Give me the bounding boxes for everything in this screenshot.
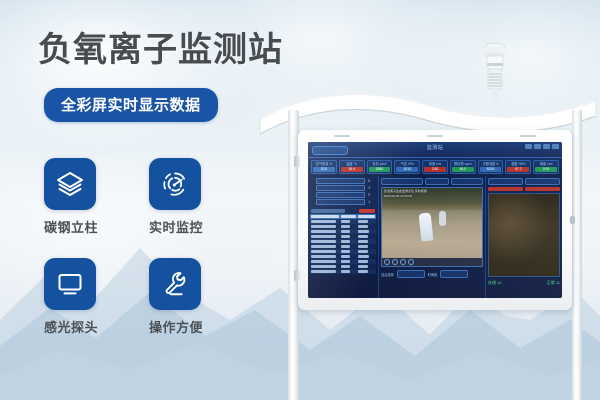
cell-text-bar: [341, 260, 350, 263]
cell-text-bar: [358, 225, 368, 228]
dashboard-toolbar[interactable]: [525, 144, 559, 149]
kpi-card[interactable]: 风速 m/s2.60: [422, 160, 448, 174]
cell-text-bar: [341, 230, 350, 233]
video-feed[interactable]: 负氧离子生态监测点位 实时视频 2023-02-20 14:26:08: [381, 187, 483, 267]
cell-text-bar: [341, 225, 350, 228]
range-select[interactable]: [440, 270, 468, 278]
layers-icon-tile: [44, 158, 96, 210]
cell-text-bar: [358, 220, 368, 223]
kpi-value: 57.2: [507, 167, 529, 172]
product-banner: 负氧离子监测站 全彩屏实时显示数据 碳钢立柱: [0, 0, 600, 400]
cell-text-bar: [311, 250, 336, 253]
range-select-label: 时间段: [428, 272, 438, 277]
cell-text-bar: [341, 240, 350, 243]
status-online: 在线 12: [488, 280, 502, 286]
dashboard-left-panel: 6391: [308, 176, 379, 298]
feature-grid: 碳钢立柱 实时监控: [44, 158, 234, 336]
post-right: [572, 110, 582, 400]
kpi-card[interactable]: 温度 ℃18.4: [339, 160, 365, 174]
tool-icon[interactable]: [543, 144, 550, 149]
cell-text-bar: [341, 245, 350, 248]
status-normal: 正常 11: [547, 280, 560, 286]
cabinet-hinge: [294, 270, 300, 281]
kpi-card[interactable]: 空气质量 %32.5: [311, 160, 337, 174]
video-toolbar[interactable]: [381, 178, 483, 185]
monitor-icon: [55, 269, 85, 299]
tool-icon[interactable]: [525, 144, 532, 149]
map-view[interactable]: [488, 193, 560, 277]
mini-stat: 9: [316, 192, 370, 198]
feature-label: 碳钢立柱: [44, 217, 96, 236]
cell-text-bar: [341, 220, 350, 223]
header-text-bar: [358, 215, 375, 218]
cabinet-vent: [334, 135, 350, 137]
wrench-icon-tile: [149, 258, 201, 310]
right-panel-footer: 在线 12 正常 11: [488, 280, 560, 286]
kpi-card[interactable]: 负氧 pcs/l1860: [367, 160, 393, 174]
tool-icon[interactable]: [534, 144, 541, 149]
dashboard-title: 监测站: [308, 144, 562, 151]
feature-item-steel-column[interactable]: 碳钢立柱: [44, 158, 96, 236]
kpi-label: 风速 m/s: [424, 162, 446, 166]
video-refresh-button[interactable]: [451, 178, 483, 185]
kpi-label: 光照强度 lx: [480, 162, 502, 166]
kpi-label: 温度 ℃: [341, 162, 363, 166]
site-select-label: 站点选择: [381, 272, 394, 277]
display-cabinet: 监测站 空气质量 %32.5温度 ℃18.4负氧 pcs/l1860气压 hPa…: [298, 130, 572, 310]
cell-text-bar: [358, 255, 369, 258]
monitor-icon-tile: [44, 258, 96, 310]
video-subject-person: [439, 211, 446, 226]
mini-stat-bar: [316, 185, 365, 191]
kpi-card[interactable]: 光照强度 lx8200: [478, 160, 504, 174]
device-table[interactable]: [310, 214, 376, 274]
status-badge[interactable]: [488, 187, 523, 191]
play-icon[interactable]: [384, 259, 390, 265]
cell-text-bar: [311, 225, 336, 228]
radar-icon-tile: [149, 158, 201, 210]
kpi-label: 气压 hPa: [396, 162, 418, 166]
mini-stat: 1: [316, 199, 370, 205]
mini-stat-bar: [316, 199, 365, 205]
mini-stat: 6: [316, 178, 370, 184]
kpi-value: 46.0: [452, 167, 474, 172]
monitoring-station-kiosk: 监测站 空气质量 %32.5温度 ℃18.4负氧 pcs/l1860气压 hPa…: [250, 18, 600, 400]
kpi-card[interactable]: 雨量 mm0.00: [533, 160, 559, 174]
cell-text-bar: [358, 230, 369, 233]
cell-text-bar: [358, 240, 368, 243]
mini-stat: 3: [316, 185, 370, 191]
site-select[interactable]: [397, 270, 425, 278]
mini-stat-value: 3: [368, 186, 370, 190]
cell-text-bar: [358, 270, 368, 273]
feature-label: 实时监控: [149, 217, 201, 236]
video-controls[interactable]: [382, 258, 482, 266]
wrench-icon: [160, 269, 190, 299]
cell-text-bar: [311, 220, 336, 223]
table-body: [310, 219, 376, 274]
dashboard-body: 6391: [308, 176, 562, 298]
mini-stat-list: 6391: [310, 178, 376, 205]
table-cell: [357, 269, 376, 274]
feature-badge: 全彩屏实时显示数据: [44, 88, 218, 122]
cell-text-bar: [311, 235, 336, 238]
cell-text-bar: [341, 255, 350, 258]
table-export-button[interactable]: [359, 209, 375, 213]
snapshot-icon[interactable]: [400, 259, 406, 265]
radar-icon: [160, 169, 190, 199]
cell-text-bar: [358, 260, 368, 263]
right-panel-tabs[interactable]: [488, 178, 560, 185]
page-title: 负氧离子监测站: [38, 22, 283, 71]
dashboard-footer-controls[interactable]: 站点选择 时间段: [381, 270, 483, 278]
cell-text-bar: [358, 235, 368, 238]
kpi-label: 雨量 mm: [535, 162, 557, 166]
cell-text-bar: [358, 250, 368, 253]
table-cell: [340, 269, 357, 274]
kpi-row: 空气质量 %32.5温度 ℃18.4负氧 pcs/l1860气压 hPa1013…: [308, 158, 562, 176]
kpi-label: 湿度 %RH: [507, 162, 529, 166]
alarm-badges[interactable]: [488, 187, 560, 191]
kpi-card[interactable]: 气压 hPa1013: [394, 160, 420, 174]
kpi-label: 颗粒物 ug/m: [452, 162, 474, 166]
header-text-bar: [341, 215, 356, 218]
tab-list[interactable]: [488, 178, 523, 185]
feature-item-easy-operation[interactable]: 操作方便: [149, 258, 201, 336]
video-filter-button[interactable]: [425, 178, 449, 185]
pause-icon[interactable]: [392, 259, 398, 265]
tool-icon[interactable]: [552, 144, 559, 149]
status-badge[interactable]: [525, 187, 560, 191]
table-search-field[interactable]: [311, 209, 345, 213]
table-row[interactable]: [310, 269, 376, 274]
mini-stat-value: 9: [368, 193, 370, 197]
cabinet-vent: [427, 135, 443, 137]
video-osd-title: 负氧离子生态监测点位 实时视频: [384, 189, 427, 193]
kpi-card[interactable]: 湿度 %RH57.2: [505, 160, 531, 174]
cabinet-vent: [520, 135, 536, 137]
mini-stat-bar: [316, 178, 365, 184]
video-subject-person: [419, 212, 434, 241]
kpi-value: 0.00: [535, 167, 557, 172]
table-cell: [310, 269, 340, 274]
cell-text-bar: [358, 245, 368, 248]
kpi-card[interactable]: 颗粒物 ug/m46.0: [450, 160, 476, 174]
dashboard-header: 监测站: [308, 142, 562, 158]
table-toolbar[interactable]: [310, 208, 376, 213]
cell-text-bar: [311, 230, 336, 233]
kpi-value: 2.60: [424, 167, 446, 172]
mini-stat-value: 1: [368, 200, 370, 204]
cell-text-bar: [311, 240, 336, 243]
kpi-value: 8200: [480, 167, 502, 172]
mini-stat-bar: [316, 192, 365, 198]
kpi-value: 32.5: [313, 167, 335, 172]
cell-text-bar: [311, 270, 336, 273]
feature-label: 感光探头: [44, 317, 96, 336]
dashboard-center-panel: 负氧离子生态监测点位 实时视频 2023-02-20 14:26:08: [379, 176, 485, 298]
cabinet-hinge: [294, 156, 300, 167]
cell-text-bar: [341, 250, 350, 253]
layers-icon: [55, 169, 85, 199]
kpi-value: 1860: [369, 167, 391, 172]
cell-text-bar: [358, 265, 368, 268]
kpi-value: 1013: [396, 167, 418, 172]
cabinet-latch[interactable]: [570, 216, 575, 224]
video-osd-timestamp: 2023-02-20 14:26:08: [384, 194, 412, 198]
kpi-value: 18.4: [341, 167, 363, 172]
cell-text-bar: [311, 260, 336, 263]
feature-item-realtime-monitoring[interactable]: 实时监控: [149, 158, 201, 236]
cell-text-bar: [311, 255, 336, 258]
tab-map[interactable]: [525, 178, 560, 185]
kpi-label: 负氧 pcs/l: [369, 162, 391, 166]
dashboard-screen[interactable]: 监测站 空气质量 %32.5温度 ℃18.4负氧 pcs/l1860气压 hPa…: [308, 142, 562, 298]
cell-text-bar: [341, 270, 350, 273]
cell-text-bar: [311, 265, 336, 268]
video-search-field[interactable]: [381, 178, 423, 185]
cell-text-bar: [341, 235, 350, 238]
kpi-label: 空气质量 %: [313, 162, 335, 166]
header-text-bar: [311, 215, 339, 218]
cell-text-bar: [311, 245, 336, 248]
feature-label: 操作方便: [149, 317, 201, 336]
feature-item-light-sensor[interactable]: 感光探头: [44, 258, 96, 336]
mini-stat-value: 6: [368, 179, 370, 183]
cell-text-bar: [341, 265, 350, 268]
dashboard-right-panel: 在线 12 正常 11: [485, 176, 562, 298]
fullscreen-icon[interactable]: [408, 259, 414, 265]
